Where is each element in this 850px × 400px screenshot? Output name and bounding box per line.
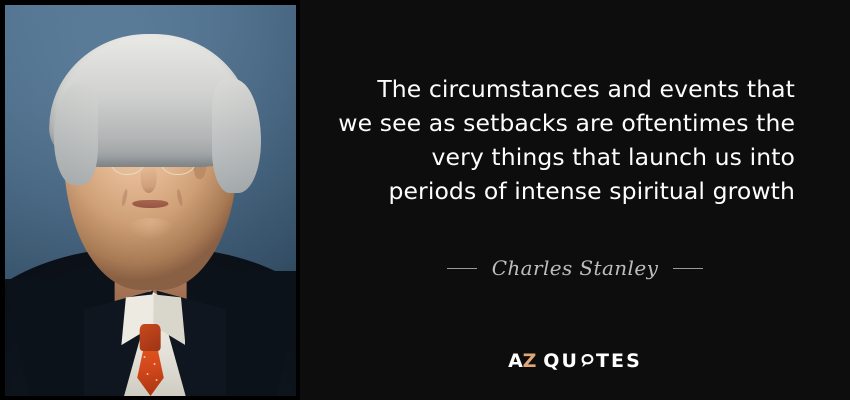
- portrait-figure: [5, 5, 296, 396]
- content-panel: The circumstances and events that we see…: [300, 0, 850, 400]
- tie-dot: [155, 379, 157, 381]
- quote-text: The circumstances and events that we see…: [338, 72, 795, 208]
- azquotes-logo[interactable]: AZQUTES: [300, 350, 850, 372]
- quote-card: The circumstances and events that we see…: [0, 0, 850, 400]
- author-name[interactable]: Charles Stanley: [492, 256, 659, 280]
- logo-text-qu: QU: [543, 350, 579, 372]
- logo-text-tes: TES: [596, 350, 642, 372]
- tie-dot: [144, 356, 146, 358]
- hair-side-right: [212, 79, 261, 192]
- portrait-panel: [0, 0, 300, 400]
- attribution: Charles Stanley: [300, 256, 850, 280]
- logo-letter-z: Z: [523, 350, 537, 372]
- hair-side-left: [54, 83, 98, 185]
- logo-az-mark: AZ: [508, 350, 536, 372]
- speech-bubble-icon: [580, 353, 595, 368]
- logo-letter-a: A: [508, 350, 523, 372]
- attribution-dash-right: [673, 268, 703, 269]
- necktie-knot: [139, 324, 161, 351]
- smile-line-right: [176, 188, 183, 205]
- tie-dot: [146, 373, 148, 375]
- smile-line-left: [121, 188, 128, 205]
- mouth: [132, 200, 169, 208]
- tie-dot: [153, 363, 155, 365]
- attribution-dash-left: [447, 268, 477, 269]
- portrait-image: [5, 5, 296, 396]
- chin: [128, 218, 173, 240]
- logo-word-quotes: QUTES: [543, 350, 642, 372]
